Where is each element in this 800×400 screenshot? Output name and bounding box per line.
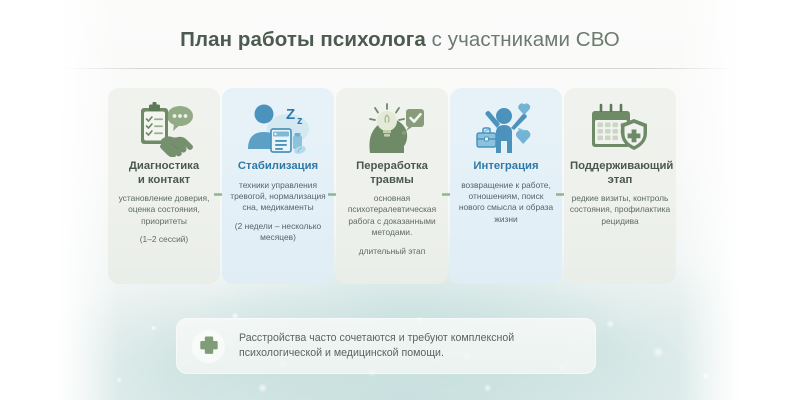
note-line-1: Расстройства часто сочетаются и требуют …	[239, 332, 514, 344]
note-text: Расстройства часто сочетаются и требуют …	[239, 331, 514, 362]
stage-card-pererabotka-travmy[interactable]: Переработка травмы основная психотералев…	[336, 88, 448, 284]
note-bar: Расстройства часто сочетаются и требуют …	[176, 318, 596, 374]
stage-card-title: Переработка травмы	[340, 160, 444, 187]
stage-title-line1: Переработка	[356, 160, 428, 172]
stage-card-podderzhivayushchiy-etap[interactable]: Поддерживающий этап редкие визиты, контр…	[564, 88, 676, 284]
note-line-2: психологической и медицинской помощи.	[239, 347, 444, 359]
head-lightbulb-check-icon	[340, 97, 444, 159]
title-divider	[62, 68, 736, 69]
stage-card-title: Стабилизация	[226, 160, 330, 174]
calendar-shield-cross-icon	[568, 97, 672, 159]
page-title-light: с участниками СВО	[426, 28, 620, 51]
medical-cross-icon	[192, 330, 225, 363]
person-arms-up-hearts-briefcase-icon	[454, 97, 558, 159]
stage-card-description: техники управления тревогой, нормализаци…	[226, 180, 330, 214]
stage-card-diagnostika[interactable]: Диагностика и контакт установление довер…	[108, 88, 220, 284]
stage-card-title: Диагностика и контакт	[112, 160, 216, 187]
stage-card-description: редкие визиты, контроль состояния, профи…	[568, 193, 672, 227]
stage-card-extra: (2 недели – несколько месяцев)	[226, 221, 330, 244]
stage-card-description: установление доверия, оценка состояния, …	[112, 193, 216, 227]
stage-card-description: основная психотералевтическая рабога с д…	[340, 193, 444, 239]
infographic-canvas: План работы психолога с участниками СВО	[0, 0, 800, 400]
svg-text:z: z	[297, 115, 303, 127]
stage-card-extra: (1–2 сессий)	[112, 234, 216, 245]
clipboard-checklist-handshake-icon	[112, 97, 216, 159]
stage-card-stabilizaciya[interactable]: Z z Стабилизация те	[222, 88, 334, 284]
stage-title-line1: Поддерживающий	[570, 160, 673, 172]
stage-title-line2: травмы	[370, 174, 414, 186]
stage-card-title: Поддерживающий этап	[568, 160, 672, 187]
stage-card-integraciya[interactable]: Интеграция возвращение к работе, отношен…	[450, 88, 562, 284]
page-title-bold: План работы психолога	[180, 28, 426, 51]
stage-card-extra: длительный этап	[340, 246, 444, 257]
stage-card-description: возвращение к работе, отношениям, поиск …	[454, 180, 558, 226]
stage-cards-row: Диагностика и контакт установление довер…	[108, 88, 692, 298]
person-sleep-medicine-icon: Z z	[226, 97, 330, 159]
stage-title-line2: этап	[608, 174, 633, 186]
stage-card-title: Интеграция	[454, 160, 558, 174]
stage-title-line1: Диагностика	[129, 160, 199, 172]
stage-title-line2: и контакт	[138, 174, 190, 186]
page-title: План работы психолога с участниками СВО	[0, 28, 800, 52]
svg-text:Z: Z	[286, 106, 295, 123]
